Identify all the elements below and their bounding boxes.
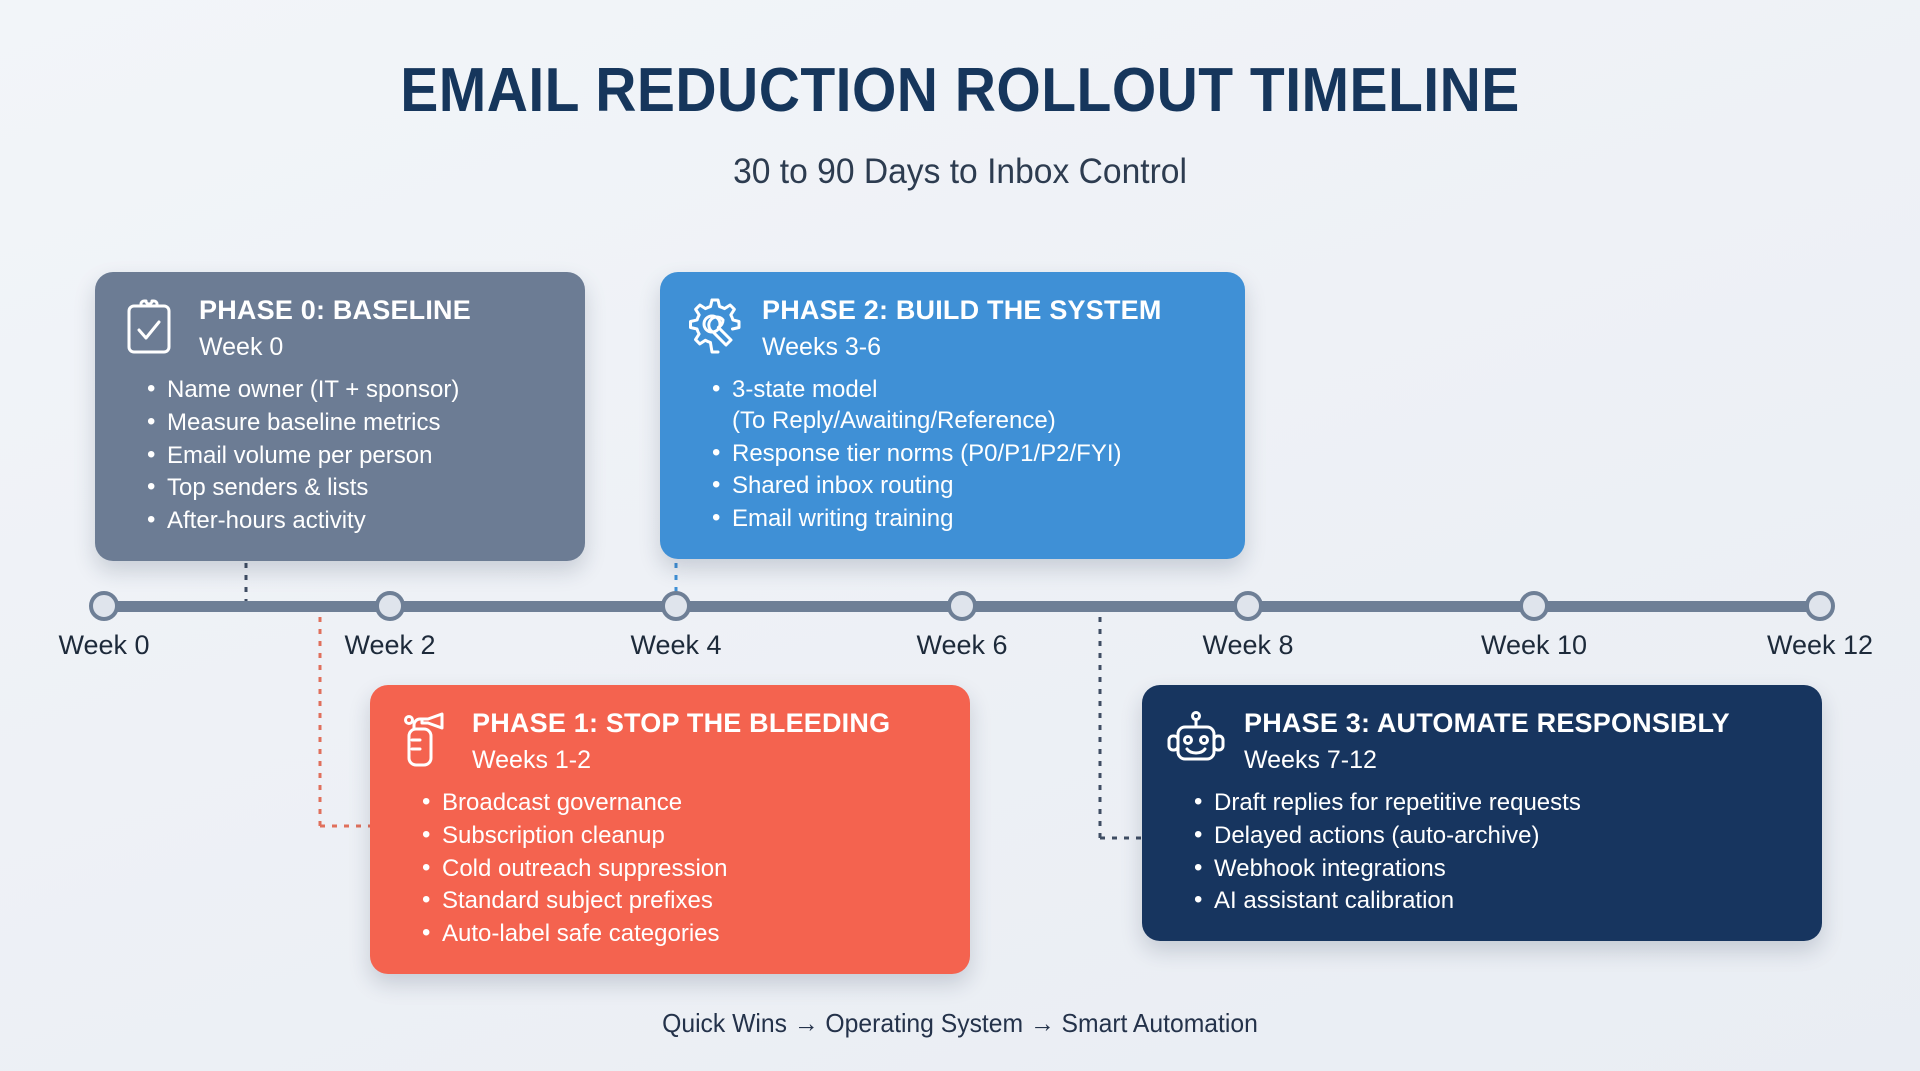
card-bullet-list: Name owner (IT + sponsor)Measure baselin… (141, 375, 559, 537)
card-title: PHASE 3: AUTOMATE RESPONSIBLY (1244, 709, 1730, 739)
card-header-text: PHASE 1: STOP THE BLEEDING Weeks 1-2 (472, 705, 890, 774)
card-weeks: Weeks 1-2 (472, 747, 890, 775)
footer-caption: Quick Wins → Operating System → Smart Au… (48, 1008, 1872, 1039)
bullet-item: Response tier norms (P0/P1/P2/FYI) (706, 439, 1219, 470)
bullet-item: AI assistant calibration (1188, 886, 1796, 917)
card-title: PHASE 2: BUILD THE SYSTEM (762, 296, 1162, 326)
clipboard-check-icon (117, 294, 181, 358)
card-title: PHASE 1: STOP THE BLEEDING (472, 709, 890, 739)
bullet-item: Subscription cleanup (416, 821, 944, 852)
timeline-tick-marker[interactable] (1519, 591, 1549, 621)
timeline-tick-marker[interactable] (375, 591, 405, 621)
card-bullet-list: Broadcast governanceSubscription cleanup… (416, 788, 944, 950)
card-weeks: Week 0 (197, 334, 471, 362)
fire-extinguisher-icon (392, 707, 456, 771)
card-phase-0[interactable]: PHASE 0: BASELINE Week 0 Name owner (IT … (95, 272, 585, 561)
bullet-item: Top senders & lists (141, 473, 559, 504)
card-bullet-list: 3-state model (To Reply/Awaiting/Referen… (706, 375, 1219, 535)
card-weeks: Weeks 7-12 (1244, 747, 1730, 775)
card-header: PHASE 2: BUILD THE SYSTEM Weeks 3-6 (682, 292, 1219, 361)
card-weeks: Weeks 3-6 (762, 334, 1162, 362)
card-title: PHASE 0: BASELINE (197, 296, 471, 326)
bullet-item: 3-state model (To Reply/Awaiting/Referen… (706, 375, 1219, 436)
bullet-item: Webhook integrations (1188, 854, 1796, 885)
timeline-tick-marker[interactable] (89, 591, 119, 621)
timeline-tick-label: Week 12 (1767, 630, 1873, 661)
bullet-item: Measure baseline metrics (141, 408, 559, 439)
bullet-item: Delayed actions (auto-archive) (1188, 821, 1796, 852)
bullet-item: Cold outreach suppression (416, 854, 944, 885)
bullet-item: Shared inbox routing (706, 471, 1219, 502)
timeline-tick-marker[interactable] (1805, 591, 1835, 621)
timeline-tick-marker[interactable] (661, 591, 691, 621)
timeline-tick-label: Week 10 (1481, 630, 1587, 661)
page-subtitle: 30 to 90 Days to Inbox Control (38, 152, 1881, 192)
bullet-item: Auto-label safe categories (416, 919, 944, 950)
robot-icon (1164, 707, 1228, 771)
timeline-tick-marker[interactable] (947, 591, 977, 621)
bullet-item: Standard subject prefixes (416, 886, 944, 917)
card-header-text: PHASE 0: BASELINE Week 0 (197, 292, 471, 361)
timeline-tick-label: Week 8 (1202, 630, 1293, 661)
timeline-tick-label: Week 0 (58, 630, 149, 661)
gear-wrench-icon (682, 294, 746, 358)
card-bullet-list: Draft replies for repetitive requestsDel… (1188, 788, 1796, 917)
timeline-tick-label: Week 4 (630, 630, 721, 661)
card-header-text: PHASE 3: AUTOMATE RESPONSIBLY Weeks 7-12 (1244, 705, 1730, 774)
card-header: PHASE 0: BASELINE Week 0 (117, 292, 559, 361)
timeline-tick-marker[interactable] (1233, 591, 1263, 621)
timeline-tick-label: Week 6 (916, 630, 1007, 661)
infographic-canvas: EMAIL REDUCTION ROLLOUT TIMELINE 30 to 9… (0, 0, 1920, 1071)
bullet-item: After-hours activity (141, 506, 559, 537)
card-phase-3[interactable]: PHASE 3: AUTOMATE RESPONSIBLY Weeks 7-12… (1142, 685, 1822, 941)
card-header: PHASE 1: STOP THE BLEEDING Weeks 1-2 (392, 705, 944, 774)
card-header: PHASE 3: AUTOMATE RESPONSIBLY Weeks 7-12 (1164, 705, 1796, 774)
bullet-item: Broadcast governance (416, 788, 944, 819)
page-title: EMAIL REDUCTION ROLLOUT TIMELINE (77, 58, 1843, 123)
bullet-item: Email volume per person (141, 441, 559, 472)
card-header-text: PHASE 2: BUILD THE SYSTEM Weeks 3-6 (762, 292, 1162, 361)
bullet-item: Draft replies for repetitive requests (1188, 788, 1796, 819)
timeline-tick-label: Week 2 (344, 630, 435, 661)
bullet-item: Name owner (IT + sponsor) (141, 375, 559, 406)
bullet-item: Email writing training (706, 504, 1219, 535)
card-phase-1[interactable]: PHASE 1: STOP THE BLEEDING Weeks 1-2 Bro… (370, 685, 970, 974)
card-phase-2[interactable]: PHASE 2: BUILD THE SYSTEM Weeks 3-6 3-st… (660, 272, 1245, 559)
